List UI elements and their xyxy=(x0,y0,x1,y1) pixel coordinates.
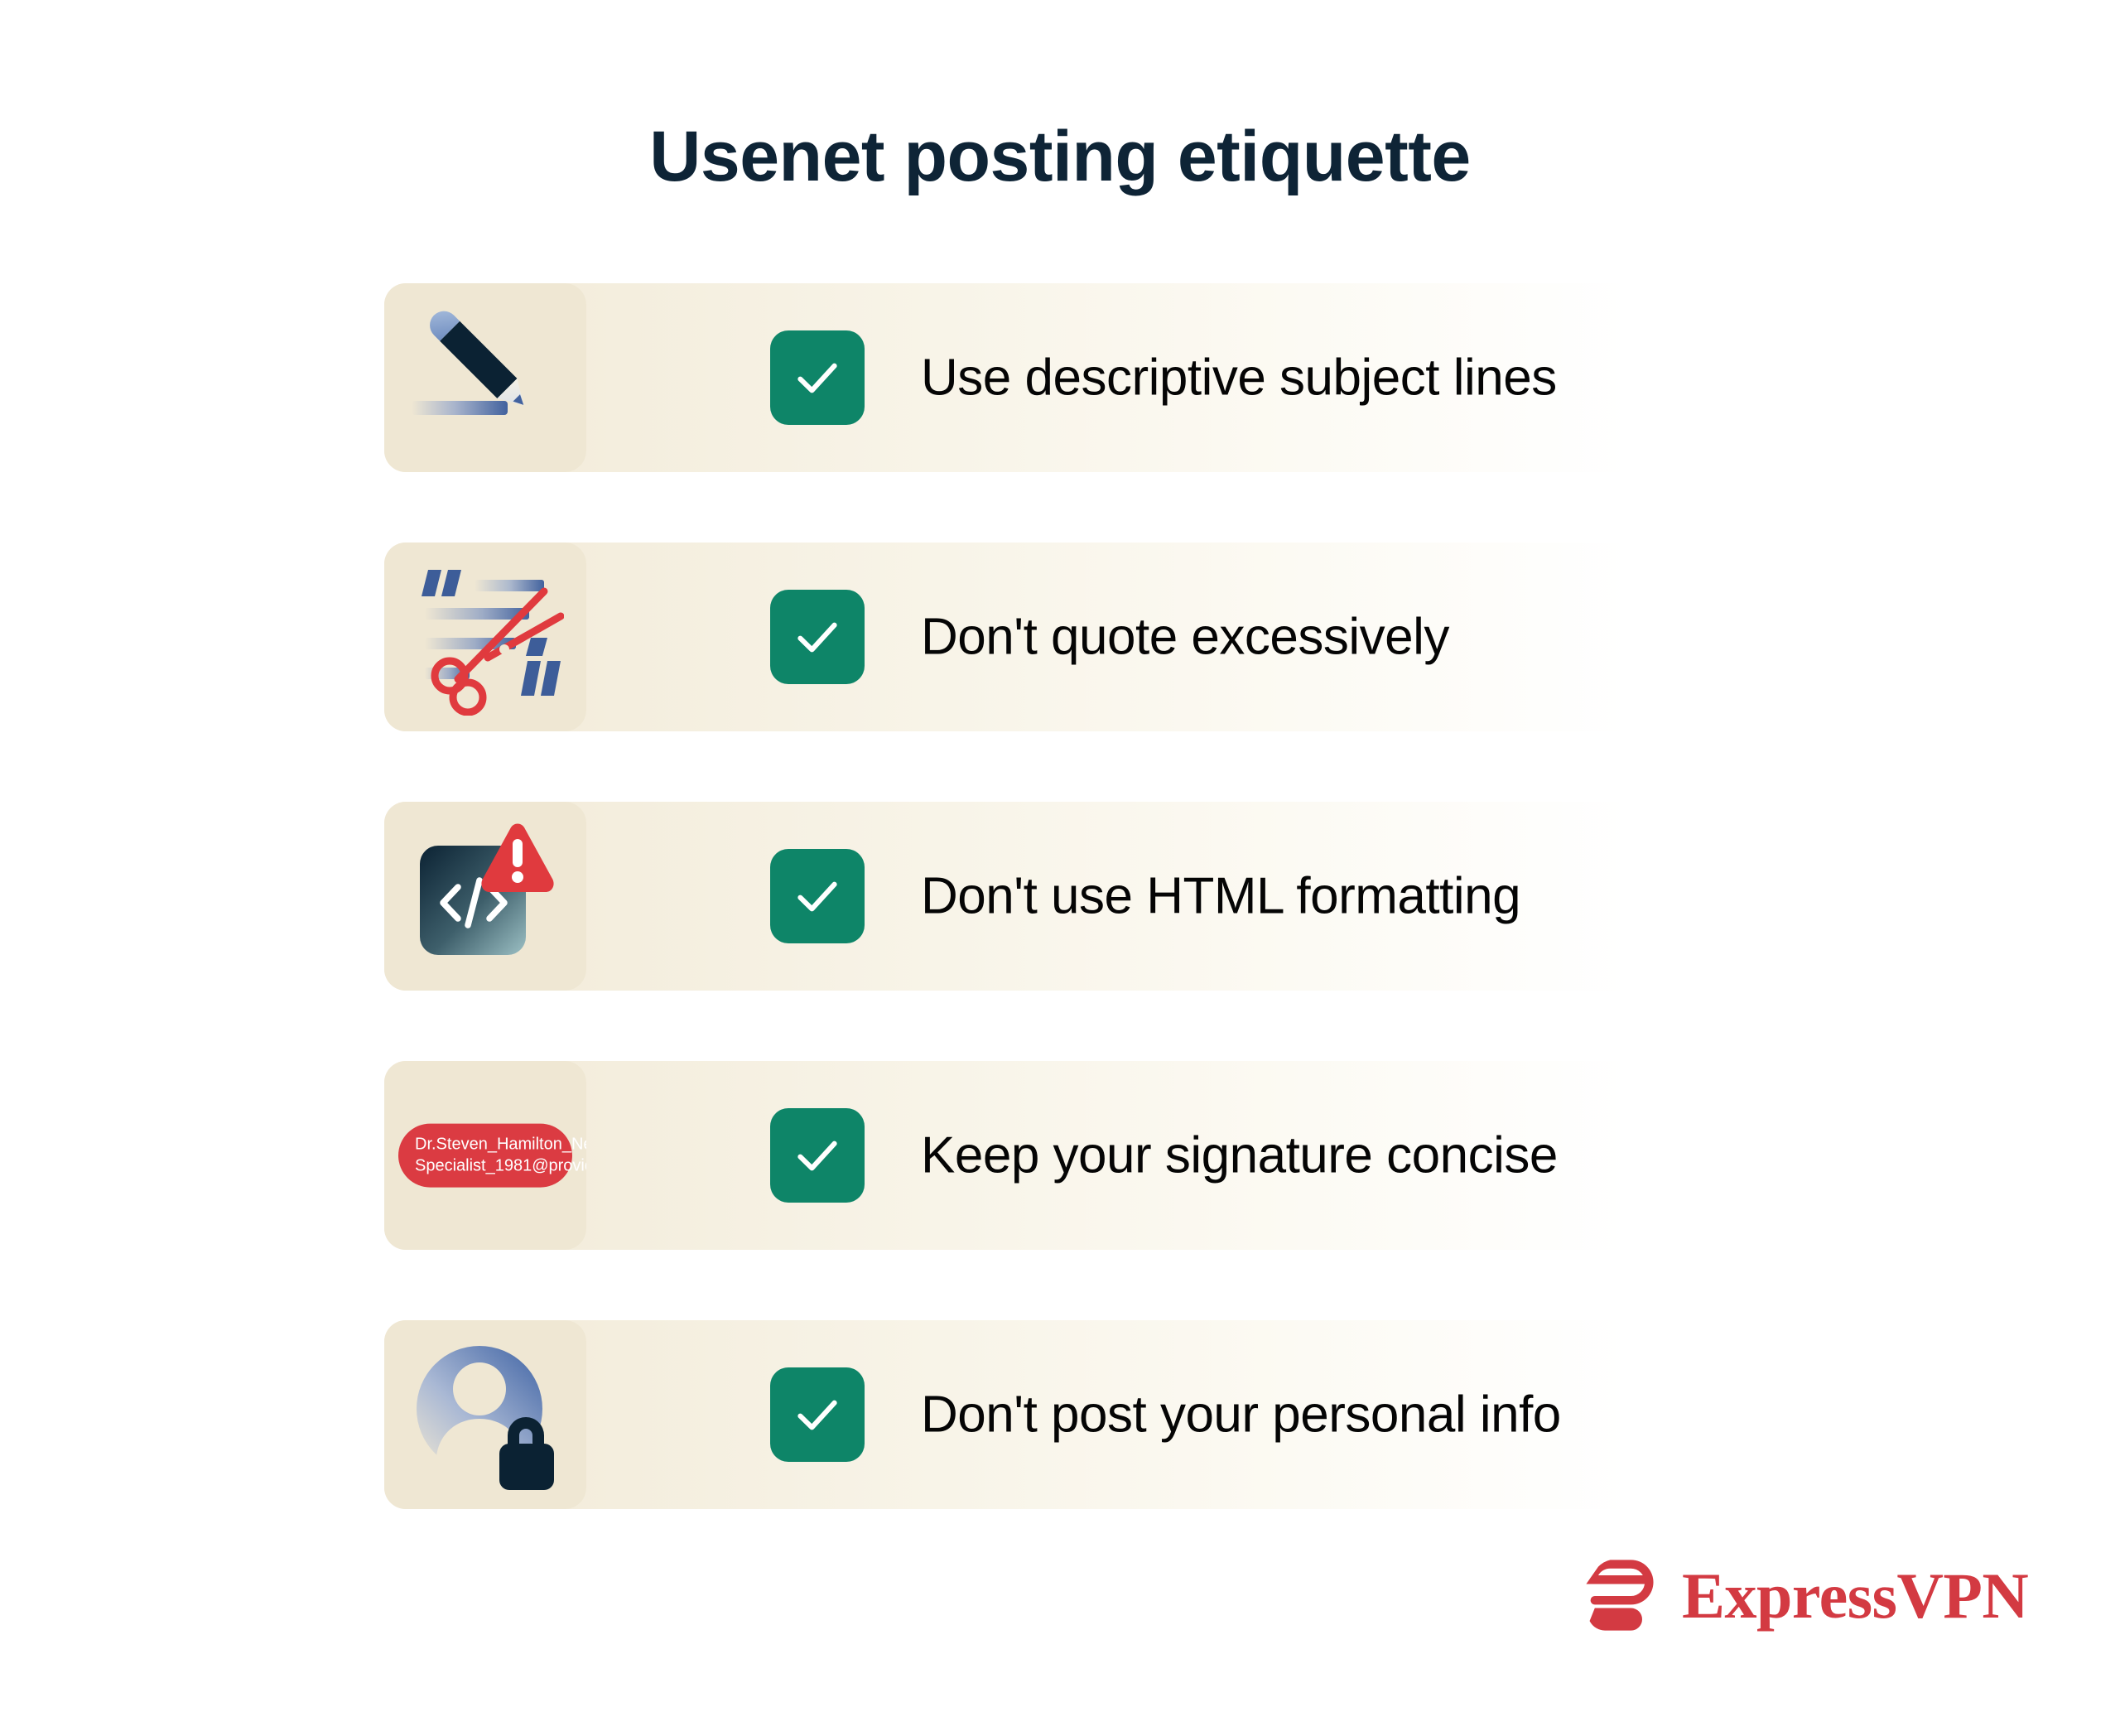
etiquette-list: Use descriptive subject lines xyxy=(384,283,1709,1579)
avatar-padlock-icon xyxy=(407,1336,564,1493)
list-item: Don't post your personal info xyxy=(384,1320,1709,1509)
list-item: Use descriptive subject lines xyxy=(384,283,1709,472)
infographic-page: Usenet posting etiquette xyxy=(0,0,2120,1736)
checkmark-icon xyxy=(790,610,845,664)
list-item-label: Use descriptive subject lines xyxy=(921,349,1557,407)
icon-tile xyxy=(384,283,586,472)
signature-line-1: Dr.Steven_Hamilton_Net xyxy=(415,1134,556,1155)
icon-tile xyxy=(384,802,586,991)
icon-tile xyxy=(384,542,586,731)
expressvpn-wordmark: ExpressVPN xyxy=(1682,1564,2028,1628)
list-item-label: Don't use HTML formatting xyxy=(921,867,1520,926)
checkbox-checked[interactable] xyxy=(770,849,865,943)
code-block-warning-icon xyxy=(407,817,564,975)
checkmark-icon xyxy=(790,869,845,923)
long-signature-pill-icon: Dr.Steven_Hamilton_Net Specialist_1981@p… xyxy=(398,1124,572,1188)
list-item: Don't quote excessively xyxy=(384,542,1709,731)
checkmark-icon xyxy=(790,1128,845,1183)
list-item: Don't use HTML formatting xyxy=(384,802,1709,991)
signature-line-2: Specialist_1981@provider.com xyxy=(415,1155,556,1177)
list-item-label: Don't post your personal info xyxy=(921,1386,1561,1444)
icon-tile: Dr.Steven_Hamilton_Net Specialist_1981@p… xyxy=(384,1061,586,1250)
checkmark-icon xyxy=(790,350,845,405)
icon-tile xyxy=(384,1320,586,1509)
checkbox-checked[interactable] xyxy=(770,1108,865,1203)
list-item: Dr.Steven_Hamilton_Net Specialist_1981@p… xyxy=(384,1061,1709,1250)
expressvpn-logo: ExpressVPN xyxy=(1578,1553,2028,1639)
expressvpn-e-mark-icon xyxy=(1578,1553,1664,1639)
checkbox-checked[interactable] xyxy=(770,330,865,425)
checkbox-checked[interactable] xyxy=(770,590,865,684)
page-title: Usenet posting etiquette xyxy=(0,116,2120,198)
scissors-quote-lines-icon xyxy=(407,558,564,716)
checkmark-icon xyxy=(790,1387,845,1442)
checkbox-checked[interactable] xyxy=(770,1367,865,1462)
list-item-label: Keep your signature concise xyxy=(921,1126,1558,1185)
list-item-label: Don't quote excessively xyxy=(921,608,1449,667)
pencil-writing-icon xyxy=(407,299,564,456)
